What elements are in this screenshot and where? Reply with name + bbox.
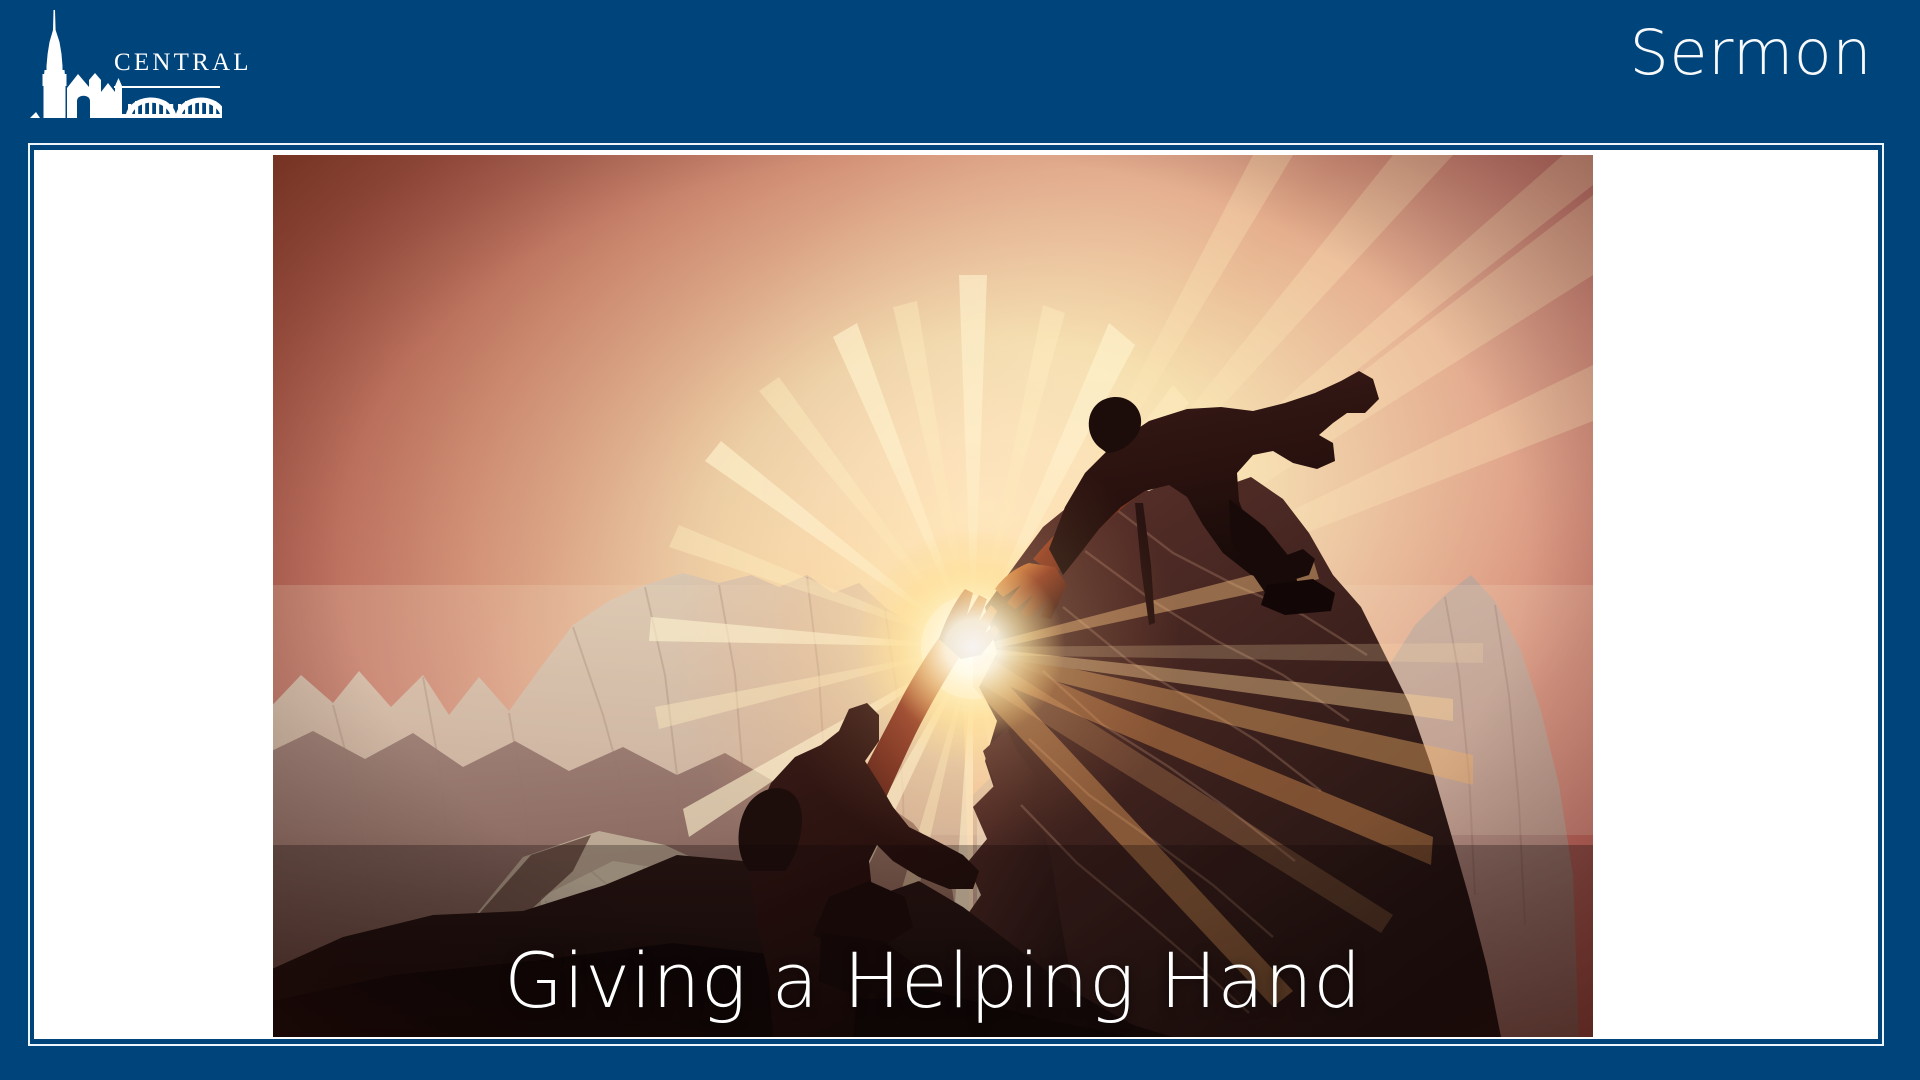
- central-church-logo: CENTRAL: [22, 8, 222, 128]
- slide-image: Giving a Helping Hand: [273, 155, 1593, 1037]
- section-label-sermon: Sermon: [1629, 22, 1872, 84]
- logo-wordmark: CENTRAL: [114, 50, 252, 75]
- climbers-sunset-illustration: [273, 155, 1593, 1037]
- slide-root: CENTRAL Sermon: [0, 0, 1920, 1080]
- slide-title: Giving a Helping Hand: [273, 943, 1593, 1019]
- logo-underline: [114, 86, 220, 88]
- slide-header: CENTRAL Sermon: [0, 0, 1920, 143]
